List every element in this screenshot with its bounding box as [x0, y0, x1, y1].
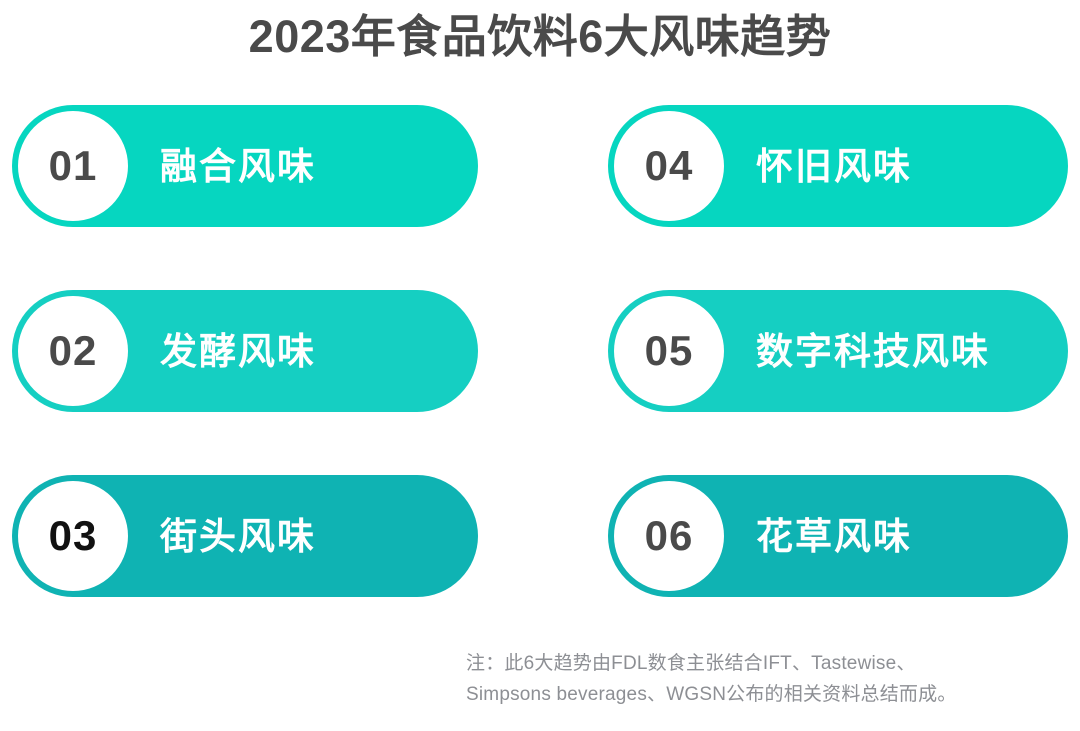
trend-number-01: 01: [49, 145, 98, 187]
trend-label-05: 数字科技风味: [756, 333, 990, 370]
infographic-page: 2023年食品饮料6大风味趋势 01 融合风味 02 发酵风味 03 街头风味: [0, 0, 1080, 731]
trend-pill-01[interactable]: 01 融合风味: [12, 105, 478, 227]
trend-number-06: 06: [645, 515, 694, 557]
trend-number-badge-06: 06: [614, 481, 724, 591]
trend-label-02: 发酵风味: [160, 333, 316, 370]
trend-label-04: 怀旧风味: [756, 148, 912, 185]
trend-pill-grid: 01 融合风味 02 发酵风味 03 街头风味 04 怀旧风味: [0, 105, 1080, 610]
page-title: 2023年食品饮料6大风味趋势: [0, 6, 1080, 68]
trend-label-03: 街头风味: [160, 518, 316, 555]
trend-number-badge-05: 05: [614, 296, 724, 406]
trend-number-badge-03: 03: [18, 481, 128, 591]
trend-number-03: 03: [49, 515, 98, 557]
trend-label-06: 花草风味: [756, 518, 912, 555]
trend-pill-05[interactable]: 05 数字科技风味: [608, 290, 1068, 412]
trend-number-02: 02: [49, 330, 98, 372]
trend-number-badge-01: 01: [18, 111, 128, 221]
trend-pill-02[interactable]: 02 发酵风味: [12, 290, 478, 412]
trend-number-badge-02: 02: [18, 296, 128, 406]
trend-number-05: 05: [645, 330, 694, 372]
trend-label-01: 融合风味: [160, 148, 316, 185]
trend-pill-06[interactable]: 06 花草风味: [608, 475, 1068, 597]
footnote-line-2: Simpsons beverages、WGSN公布的相关资料总结而成。: [466, 679, 1066, 710]
footnote: 注：此6大趋势由FDL数食主张结合IFT、Tastewise、 Simpsons…: [466, 648, 1066, 710]
trend-pill-04[interactable]: 04 怀旧风味: [608, 105, 1068, 227]
trend-number-04: 04: [645, 145, 694, 187]
footnote-line-1: 注：此6大趋势由FDL数食主张结合IFT、Tastewise、: [466, 648, 1066, 679]
trend-pill-03[interactable]: 03 街头风味: [12, 475, 478, 597]
trend-number-badge-04: 04: [614, 111, 724, 221]
